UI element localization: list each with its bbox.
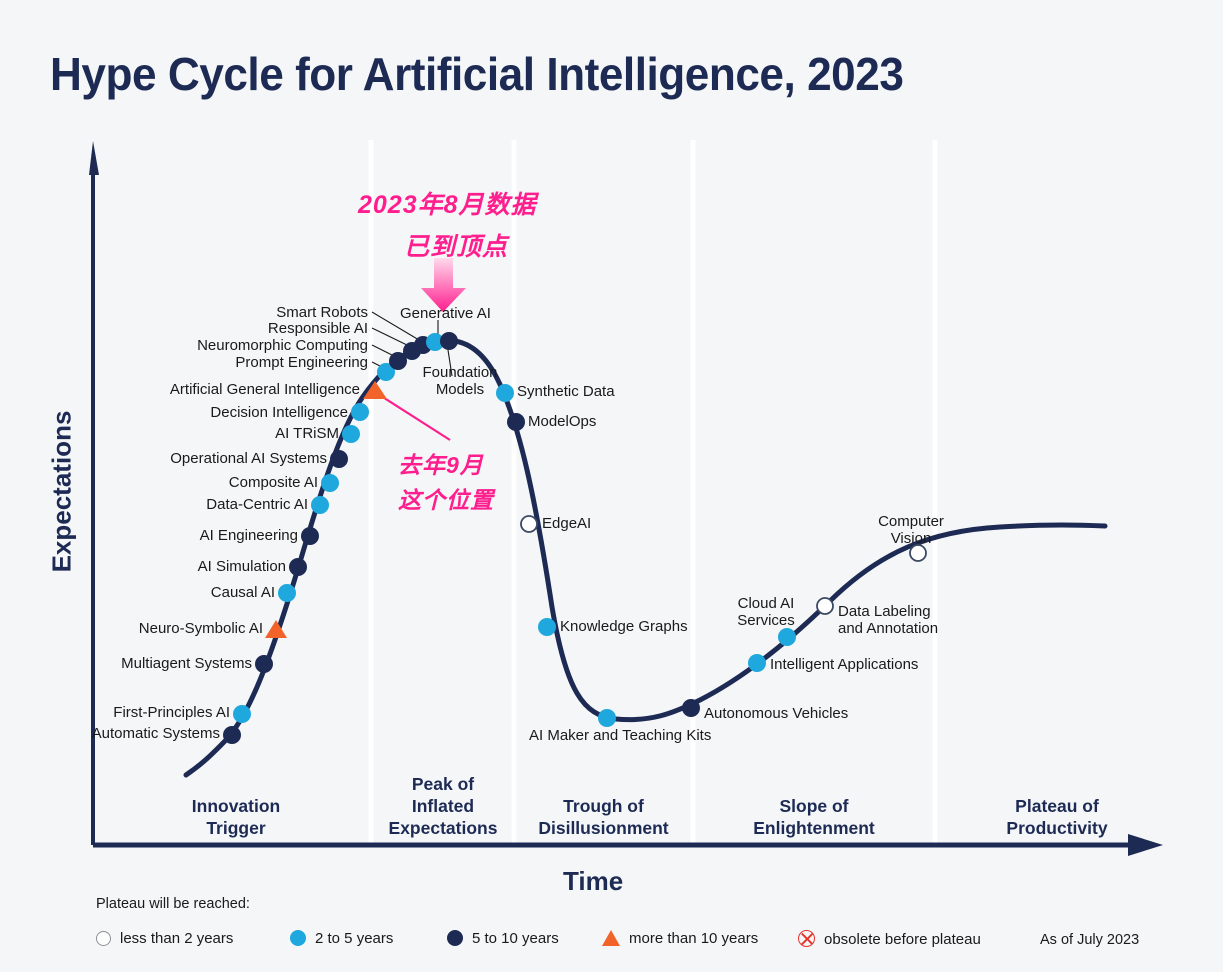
point-label-edgeai: EdgeAI	[542, 516, 591, 533]
point-label-data-labeling-and-annotation: Data Labeling and Annotation	[838, 604, 958, 637]
point-label-operational-ai-systems: Operational AI Systems	[0, 451, 327, 468]
blue-circle-icon	[290, 930, 306, 946]
point-label-ai-trism: AI TRiSM	[0, 426, 339, 443]
point-label-multiagent-systems: Multiagent Systems	[0, 656, 252, 673]
agi-note-line2: 这个位置	[398, 481, 494, 515]
phase-label-trough-of-disillusionment: Trough of Disillusionment	[515, 795, 692, 839]
phase-label-plateau-of-productivity: Plateau of Productivity	[937, 795, 1177, 839]
point-label-data-centric-ai: Data-Centric AI	[0, 497, 308, 514]
point-label-neuromorphic-computing: Neuromorphic Computing	[0, 338, 368, 355]
obsolete-icon	[798, 930, 815, 947]
open-circle-icon	[96, 931, 111, 946]
point-label-autonomous-vehicles: Autonomous Vehicles	[704, 706, 848, 723]
orange-triangle-icon	[602, 930, 620, 946]
agi-note-line1: 去年9月	[398, 446, 484, 480]
point-label-artificial-general-intelligence: Artificial General Intelligence	[0, 382, 360, 399]
point-label-ai-maker-and-teaching-kits: AI Maker and Teaching Kits	[529, 728, 711, 745]
legend-item-2-to-5-years: 2 to 5 years	[290, 930, 393, 947]
point-label-knowledge-graphs: Knowledge Graphs	[560, 619, 688, 636]
point-label-modelops: ModelOps	[528, 414, 596, 431]
page-title: Hype Cycle for Artificial Intelligence, …	[50, 47, 903, 101]
legend-item-5-to-10-years: 5 to 10 years	[447, 930, 559, 947]
x-axis-label: Time	[563, 866, 623, 897]
phase-label-slope-of-enlightenment: Slope of Enlightenment	[694, 795, 934, 839]
point-label-automatic-systems: Automatic Systems	[0, 726, 220, 743]
point-label-first-principles-ai: First-Principles AI	[0, 705, 230, 722]
point-label-causal-ai: Causal AI	[0, 585, 275, 602]
navy-circle-icon	[447, 930, 463, 946]
as-of-date: As of July 2023	[1040, 932, 1139, 948]
point-label-responsible-ai: Responsible AI	[0, 321, 368, 338]
point-label-synthetic-data: Synthetic Data	[517, 384, 615, 401]
agi-pointer-line	[378, 394, 450, 440]
legend-item-less-than-2-years: less than 2 years	[96, 930, 233, 947]
point-label-computer-vision: Computer Vision	[868, 514, 954, 547]
point-label-neuro-symbolic-ai: Neuro-Symbolic AI	[0, 621, 263, 638]
point-label-ai-simulation: AI Simulation	[0, 559, 286, 576]
point-label-ai-engineering: AI Engineering	[0, 528, 298, 545]
peak-down-arrow	[421, 258, 466, 312]
point-label-decision-intelligence: Decision Intelligence	[0, 405, 348, 422]
legend-heading: Plateau will be reached:	[96, 896, 250, 912]
phase-label-peak-of-inflated-expectations: Peak of Inflated Expectations	[372, 773, 514, 839]
point-label-smart-robots: Smart Robots	[0, 305, 368, 322]
point-label-generative-ai: Generative AI	[400, 306, 491, 323]
point-label-prompt-engineering: Prompt Engineering	[0, 355, 368, 372]
peak-note-line1: 2023年8月数据	[358, 185, 537, 221]
legend-item-obsolete-before-plateau: obsolete before plateau	[798, 930, 981, 948]
point-label-foundation-models: Foundation Models	[418, 365, 502, 398]
phase-label-innovation-trigger: Innovation Trigger	[156, 795, 316, 839]
point-label-composite-ai: Composite AI	[0, 475, 318, 492]
point-label-cloud-ai-services: Cloud AI Services	[716, 596, 816, 629]
point-label-intelligent-applications: Intelligent Applications	[770, 657, 918, 674]
legend-item-more-than-10-years: more than 10 years	[602, 930, 758, 947]
peak-note-line2: 已到顶点	[404, 227, 508, 263]
